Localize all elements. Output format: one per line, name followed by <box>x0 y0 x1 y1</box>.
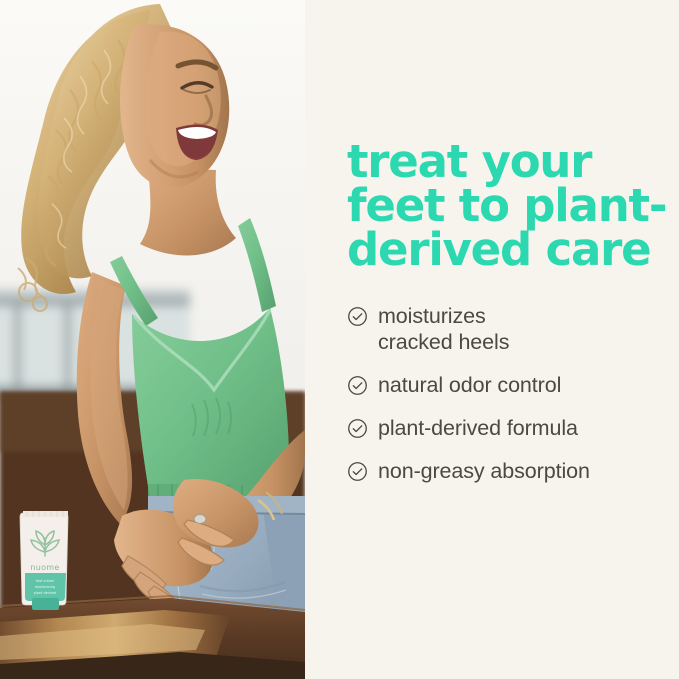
benefit-text: moisturizes cracked heels <box>378 303 509 355</box>
benefit-text: non-greasy absorption <box>378 458 590 484</box>
benefit-text-line-1: natural odor control <box>378 372 561 398</box>
circle-check-icon <box>347 418 368 439</box>
benefit-text: natural odor control <box>378 372 561 398</box>
benefit-list: moisturizes cracked heels natural odor c… <box>347 303 672 484</box>
benefit-item-odor-control: natural odor control <box>347 372 672 398</box>
headline-line-1: treat your <box>347 140 667 184</box>
photo-illustration: nuome foot cream deodorizing plant deriv… <box>0 0 305 679</box>
benefit-text-line-1: moisturizes <box>378 303 509 329</box>
headline-line-3: derived care <box>347 228 667 272</box>
page-title: treat your feet to plant- derived care <box>347 140 667 272</box>
lifestyle-photo: nuome foot cream deodorizing plant deriv… <box>0 0 305 679</box>
benefit-text-line-1: non-greasy absorption <box>378 458 590 484</box>
circle-check-icon <box>347 461 368 482</box>
headline-line-2: feet to plant- <box>347 184 667 228</box>
benefit-item-non-greasy: non-greasy absorption <box>347 458 672 484</box>
product-banner: nuome foot cream deodorizing plant deriv… <box>0 0 679 679</box>
benefit-item-moisturizes: moisturizes cracked heels <box>347 303 672 355</box>
benefit-text-line-2: cracked heels <box>378 329 509 355</box>
benefit-item-plant-derived: plant-derived formula <box>347 415 672 441</box>
content-panel: treat your feet to plant- derived care m… <box>305 0 679 679</box>
circle-check-icon <box>347 306 368 327</box>
benefit-text: plant-derived formula <box>378 415 578 441</box>
circle-check-icon <box>347 375 368 396</box>
benefit-text-line-1: plant-derived formula <box>378 415 578 441</box>
